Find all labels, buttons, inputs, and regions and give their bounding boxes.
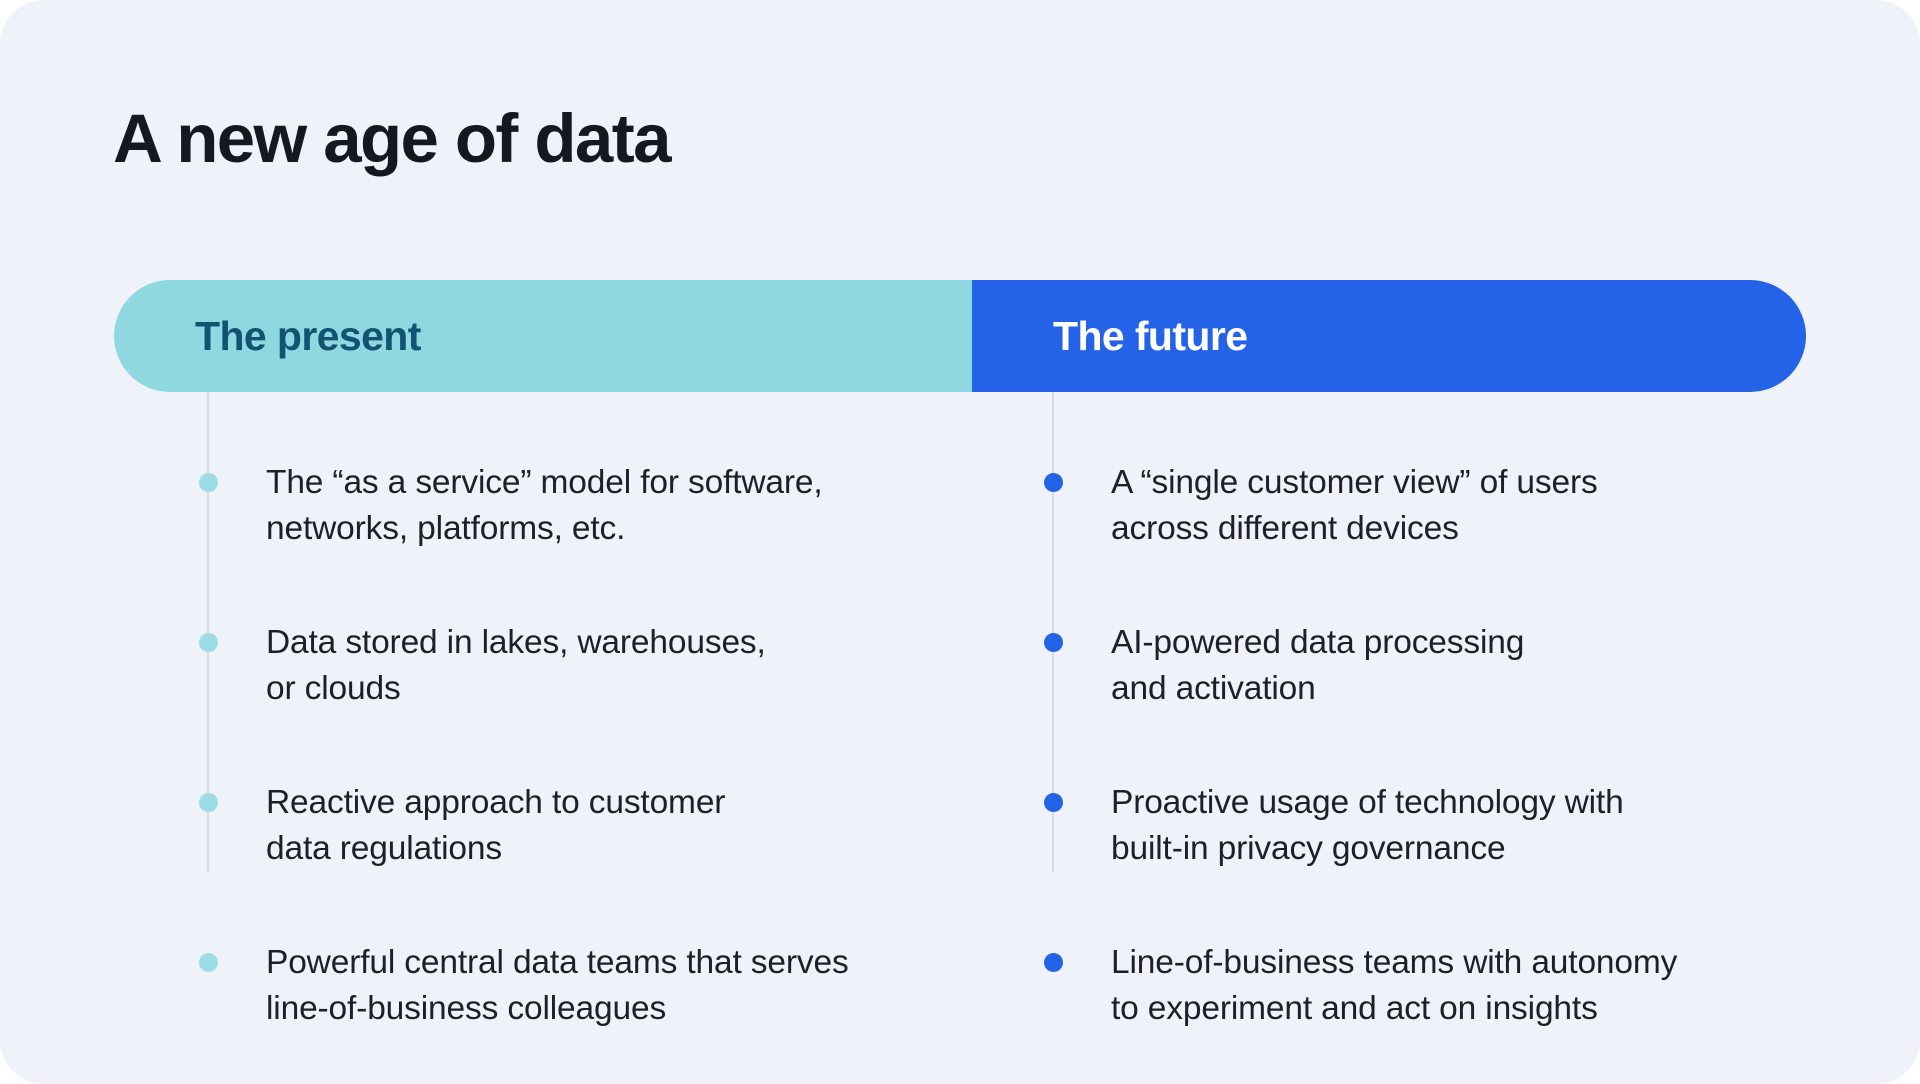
list-item-text: The “as a service” model for software, n…: [266, 392, 972, 552]
list-item-text: AI-powered data processing and activatio…: [1111, 552, 1809, 712]
list-item: A “single customer view” of users across…: [959, 392, 1809, 552]
bullet-dot-icon: [199, 953, 218, 972]
column-present: The “as a service” model for software, n…: [114, 392, 972, 1032]
bullet-dot-icon: [1044, 953, 1063, 972]
list-item-text: A “single customer view” of users across…: [1111, 392, 1809, 552]
bullet-dot-icon: [1044, 793, 1063, 812]
list-item: AI-powered data processing and activatio…: [959, 552, 1809, 712]
bullet-dot-icon: [199, 473, 218, 492]
bullet-dot-icon: [1044, 473, 1063, 492]
list-item: Proactive usage of technology with built…: [959, 712, 1809, 872]
list-item-text: Proactive usage of technology with built…: [1111, 712, 1809, 872]
header-present: The present: [114, 280, 972, 392]
bullet-dot-icon: [199, 633, 218, 652]
header-future-label: The future: [1053, 316, 1247, 357]
list-item-text: Line-of-business teams with autonomy to …: [1111, 872, 1809, 1032]
bullet-list-future: A “single customer view” of users across…: [959, 392, 1809, 1032]
page-title: A new age of data: [113, 104, 670, 173]
list-item: The “as a service” model for software, n…: [114, 392, 972, 552]
header-present-label: The present: [195, 316, 421, 357]
list-item-text: Reactive approach to customer data regul…: [266, 712, 972, 872]
list-item: Data stored in lakes, warehouses, or clo…: [114, 552, 972, 712]
list-item: Reactive approach to customer data regul…: [114, 712, 972, 872]
bullet-dot-icon: [1044, 633, 1063, 652]
list-item: Powerful central data teams that serves …: [114, 872, 972, 1032]
bullet-list-present: The “as a service” model for software, n…: [114, 392, 972, 1032]
header-future: The future: [972, 280, 1806, 392]
infographic-canvas: A new age of data The present The future…: [0, 0, 1920, 1084]
list-item: Line-of-business teams with autonomy to …: [959, 872, 1809, 1032]
column-future: A “single customer view” of users across…: [959, 392, 1809, 1032]
comparison-header-bar: The present The future: [114, 280, 1806, 392]
list-item-text: Data stored in lakes, warehouses, or clo…: [266, 552, 972, 712]
bullet-dot-icon: [199, 793, 218, 812]
list-item-text: Powerful central data teams that serves …: [266, 872, 972, 1032]
